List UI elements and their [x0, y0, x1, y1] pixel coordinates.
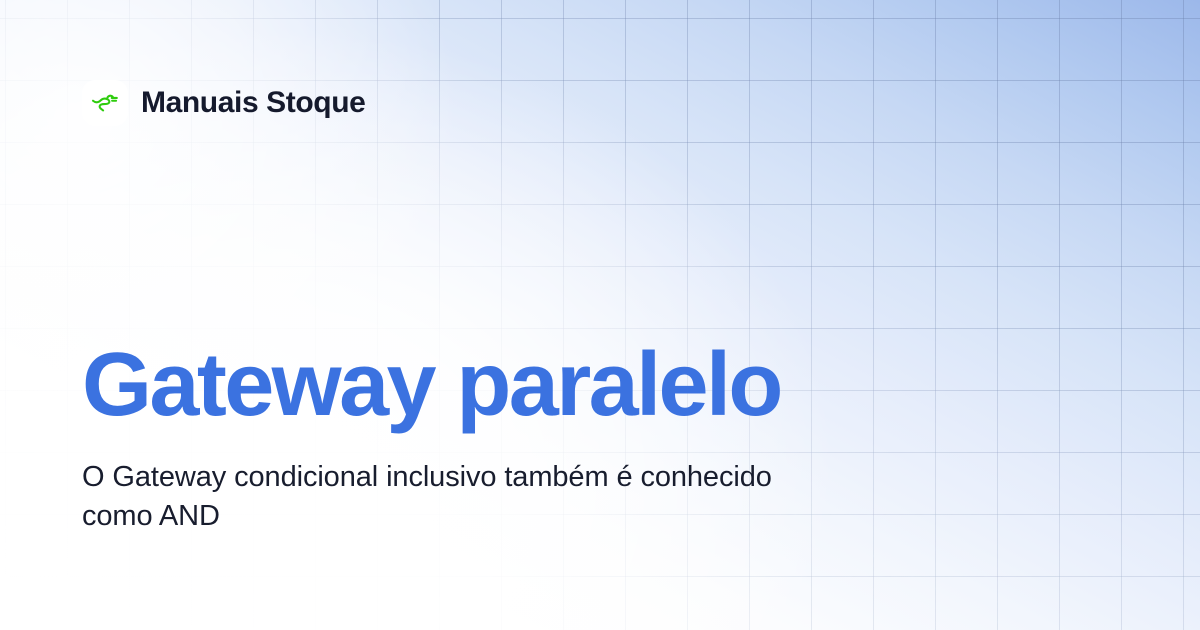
hero-content: Gateway paralelo O Gateway condicional i…: [82, 340, 982, 535]
page-subtitle: O Gateway condicional inclusivo também é…: [82, 458, 842, 535]
kangaroo-icon: [90, 88, 120, 118]
page-title: Gateway paralelo: [82, 340, 982, 430]
brand-lockup: Manuais Stoque: [82, 80, 365, 126]
brand-logo-badge: [82, 80, 128, 126]
og-preview-card: Manuais Stoque Gateway paralelo O Gatewa…: [0, 0, 1200, 630]
brand-name: Manuais Stoque: [141, 88, 365, 118]
